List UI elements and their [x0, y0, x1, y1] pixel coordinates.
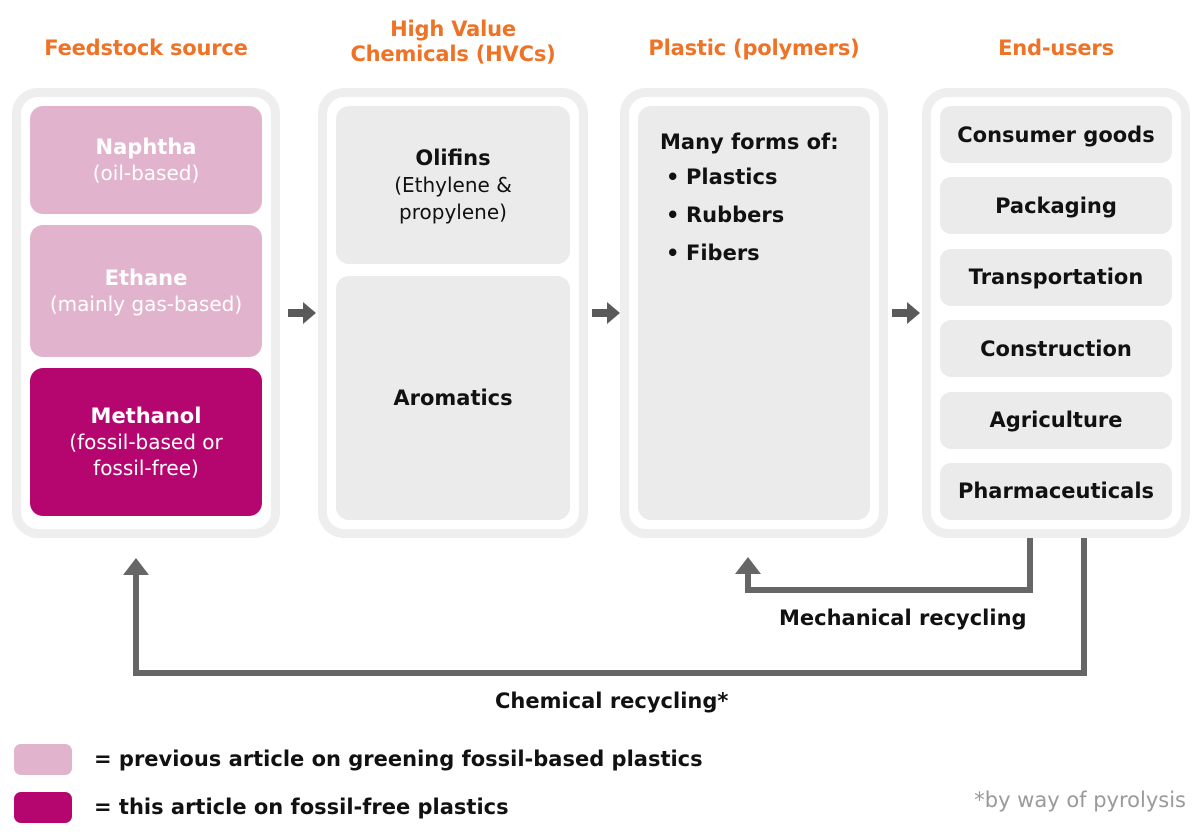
feedstock-card-ethane-title: Ethane [105, 265, 188, 291]
feedstock-card-methanol-subtitle: (fossil-based or fossil-free) [38, 429, 254, 481]
column-end-users: Consumer goods Packaging Transportation … [922, 88, 1190, 538]
column-header-endusers: End-users [922, 36, 1190, 61]
legend-item-this-article: = this article on fossil-free plastics [14, 790, 509, 824]
chemical-recycling-line-vertical-right [1081, 538, 1087, 676]
hvc-card-aromatics[interactable]: Aromatics [336, 276, 570, 520]
chemical-recycling-line-horizontal [133, 670, 1087, 676]
column-feedstock-source: Naphtha (oil-based) Ethane (mainly gas-b… [12, 88, 280, 538]
plastic-bullet-item: Rubbers [686, 196, 848, 234]
footnote-pyrolysis: *by way of pyrolysis [974, 788, 1186, 812]
feedstock-card-ethane-subtitle: (mainly gas-based) [50, 291, 242, 317]
feedstock-card-naphtha[interactable]: Naphtha (oil-based) [30, 106, 262, 214]
plastic-card-lead: Many forms of: [660, 128, 848, 156]
feedstock-card-methanol-title: Methanol [91, 403, 202, 429]
plastic-bullet-item: Fibers [686, 234, 848, 272]
legend-label-this-article: = this article on fossil-free plastics [94, 795, 509, 819]
chemical-recycling-arrowhead-icon [123, 558, 149, 575]
hvc-card-olifins-subtitle: (Ethylene & propylene) [346, 172, 560, 226]
column-header-feedstock: Feedstock source [12, 36, 280, 61]
column-header-plastic: Plastic (polymers) [620, 36, 888, 61]
feedstock-card-naphtha-subtitle: (oil-based) [93, 160, 200, 186]
chemical-recycling-line-vertical-left [133, 572, 139, 674]
column-header-hvc: High Value Chemicals (HVCs) [318, 17, 588, 67]
enduser-card-pharmaceuticals[interactable]: Pharmaceuticals [940, 463, 1172, 520]
hvc-card-olifins-title: Olifins [415, 145, 490, 172]
plastic-bullet-item: Plastics [686, 158, 848, 196]
enduser-card-construction[interactable]: Construction [940, 320, 1172, 377]
enduser-card-agriculture[interactable]: Agriculture [940, 392, 1172, 449]
legend-swatch-pink-light [14, 744, 72, 775]
flow-arrow-right-icon [592, 300, 620, 326]
legend-label-previous-article: = previous article on greening fossil-ba… [94, 747, 703, 771]
mechanical-recycling-line-vertical-right [1027, 538, 1033, 593]
mechanical-recycling-line-horizontal [745, 587, 1033, 593]
column-high-value-chemicals: Olifins (Ethylene & propylene) Aromatics [318, 88, 588, 538]
feedstock-card-naphtha-title: Naphtha [96, 134, 197, 160]
mechanical-recycling-arrowhead-icon [735, 557, 761, 574]
plastic-card[interactable]: Many forms of: Plastics Rubbers Fibers [638, 106, 870, 520]
feedstock-card-methanol[interactable]: Methanol (fossil-based or fossil-free) [30, 368, 262, 516]
enduser-card-consumer-goods[interactable]: Consumer goods [940, 106, 1172, 163]
mechanical-recycling-label: Mechanical recycling [779, 606, 1027, 630]
enduser-card-transportation[interactable]: Transportation [940, 249, 1172, 306]
flow-arrow-right-icon [288, 300, 316, 326]
hvc-card-olifins[interactable]: Olifins (Ethylene & propylene) [336, 106, 570, 264]
legend-swatch-magenta [14, 792, 72, 823]
column-plastic-polymers: Many forms of: Plastics Rubbers Fibers [620, 88, 888, 538]
feedstock-card-ethane[interactable]: Ethane (mainly gas-based) [30, 225, 262, 357]
flow-arrow-right-icon [892, 300, 920, 326]
chemical-recycling-label: Chemical recycling* [495, 689, 728, 713]
plastic-bullet-list: Plastics Rubbers Fibers [660, 158, 848, 272]
legend-item-previous-article: = previous article on greening fossil-ba… [14, 742, 703, 776]
enduser-card-packaging[interactable]: Packaging [940, 177, 1172, 234]
column-header-hvc-line2: Chemicals (HVCs) [318, 42, 588, 67]
column-header-hvc-line1: High Value [318, 17, 588, 42]
hvc-card-aromatics-title: Aromatics [393, 385, 512, 412]
